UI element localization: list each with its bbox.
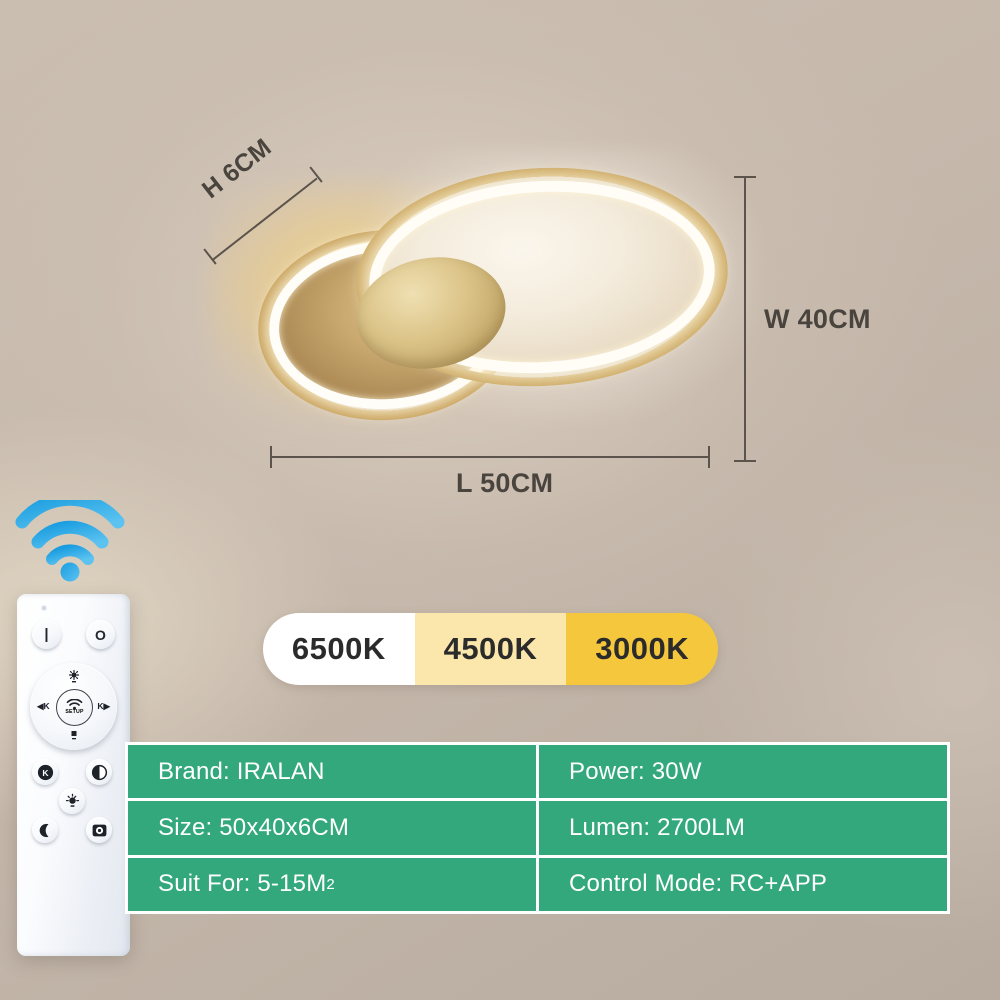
kelvin-increase-button[interactable]: K▶ <box>97 701 110 712</box>
cct-segment-6500k: 6500K <box>263 613 415 685</box>
dimension-height: H 6CM <box>205 168 325 276</box>
brightness-down-icon[interactable] <box>68 730 79 743</box>
wifi-icon <box>14 500 134 582</box>
spec-cell-size: Size: 50x40x6CM <box>128 801 536 854</box>
specification-table: Brand: IRALAN Power: 30W Size: 50x40x6CM… <box>125 742 950 914</box>
spec-cell-power: Power: 30W <box>539 745 947 798</box>
brightness-button[interactable] <box>59 788 85 814</box>
night-mode-button[interactable] <box>32 817 58 843</box>
spec-cell-control-mode: Control Mode: RC+APP <box>539 858 947 911</box>
color-temperature-bar: 6500K 4500K 3000K <box>263 613 718 685</box>
dimension-length: L 50CM <box>270 450 712 500</box>
dimension-length-label: L 50CM <box>456 468 553 499</box>
spec-suit-for-superscript: 2 <box>326 876 335 893</box>
contrast-icon <box>91 764 108 781</box>
setup-label: SETUP <box>65 710 83 715</box>
dimension-width-cap-bottom <box>734 460 756 462</box>
spec-cell-lumen: Lumen: 2700LM <box>539 801 947 854</box>
spec-cell-suit-for: Suit For: 5-15M2 <box>128 858 536 911</box>
cct-segment-3000k: 3000K <box>566 613 718 685</box>
dimension-width-label: W 40CM <box>764 304 871 335</box>
contrast-button[interactable] <box>86 759 112 785</box>
k-circle-icon: K <box>37 764 54 781</box>
remote-led-indicator <box>42 606 46 610</box>
kelvin-button[interactable]: K <box>32 759 58 785</box>
product-infographic: H 6CM W 40CM L 50CM <box>0 0 1000 1000</box>
power-on-button[interactable]: | <box>32 620 61 649</box>
dimension-width-cap-top <box>734 176 756 178</box>
dimension-length-line <box>270 456 710 458</box>
kelvin-decrease-button[interactable]: ◀K <box>37 701 50 712</box>
power-off-label: O <box>95 627 106 643</box>
remote-dpad[interactable]: ◀K K▶ SETUP <box>30 663 117 750</box>
setup-wifi-button[interactable]: SETUP <box>56 689 93 726</box>
remote-control[interactable]: | O ◀K K▶ <box>17 594 130 956</box>
moon-icon <box>37 822 54 839</box>
cct-segment-4500k: 4500K <box>415 613 567 685</box>
dimension-height-label: H 6CM <box>197 133 277 205</box>
brightness-up-icon[interactable] <box>68 670 80 686</box>
dimension-width: W 40CM <box>738 176 868 466</box>
spec-suit-for-text: Suit For: 5-15M <box>158 870 326 898</box>
dimension-length-cap-left <box>270 446 272 468</box>
power-off-button[interactable]: O <box>86 620 115 649</box>
power-on-label: | <box>44 626 48 643</box>
timer-button[interactable] <box>86 817 112 843</box>
svg-text:K: K <box>42 768 49 778</box>
dimension-length-cap-right <box>708 446 710 468</box>
bulb-icon <box>64 793 81 810</box>
dimension-width-line <box>744 176 746 462</box>
timer-icon <box>91 822 108 839</box>
spec-cell-brand: Brand: IRALAN <box>128 745 536 798</box>
